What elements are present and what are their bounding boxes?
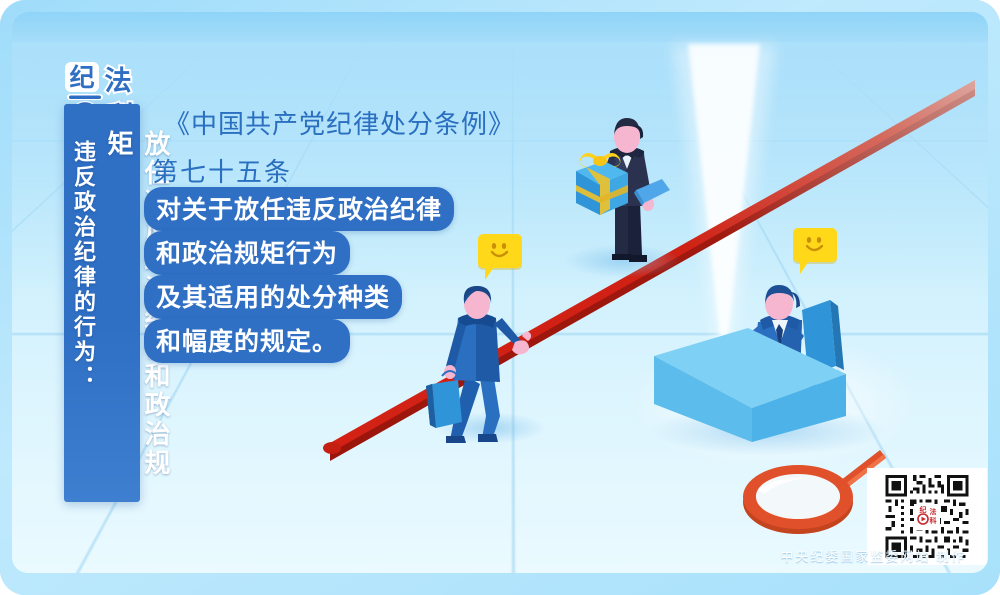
highlight-line-3: 及其适用的处分种类 [144, 275, 402, 319]
figure-seated-official [652, 270, 882, 445]
svg-text:法: 法 [105, 66, 132, 96]
figure-gift-giver [552, 107, 702, 272]
corner-bottom-left [0, 569, 26, 595]
smiley-icon-right [801, 235, 829, 255]
credit-text: 中央纪委国家监委网站 制作 [780, 546, 966, 565]
highlight-line-1: 对关于放任违反政治纪律 [144, 187, 454, 231]
corner-top-right [974, 0, 1000, 26]
figure-walking-man [410, 280, 580, 452]
svg-text:法: 法 [930, 507, 937, 516]
corner-top-left [0, 0, 26, 26]
svg-text:纪: 纪 [920, 505, 927, 514]
highlight-line-2: 和政治规矩行为 [144, 231, 350, 275]
regulation-article-number: 第七十五条 [152, 152, 292, 189]
speech-bubble-right [793, 228, 837, 262]
logo-char-fa: 法 [105, 66, 132, 96]
vertical-heading-category: 违反政治纪律的行为： [67, 140, 99, 496]
gift-box [576, 153, 628, 215]
svg-text:纪: 纪 [69, 63, 94, 92]
corner-bottom-right [974, 569, 1000, 595]
regulation-source-title: 《中国共产党纪律处分条例》 [164, 104, 515, 141]
poster-inner-panel: 纪 法 科 违反 [12, 12, 988, 573]
poster-root: 纪 法 科 违反 [0, 0, 1000, 595]
smiley-icon-left [486, 241, 514, 261]
qr-center-logo: 纪 法 科 [914, 504, 940, 530]
speech-bubble-left [478, 234, 522, 268]
svg-text:科: 科 [930, 516, 937, 525]
logo-char-ji: 纪 [65, 62, 99, 92]
highlight-line-4: 和幅度的规定。 [144, 319, 350, 363]
